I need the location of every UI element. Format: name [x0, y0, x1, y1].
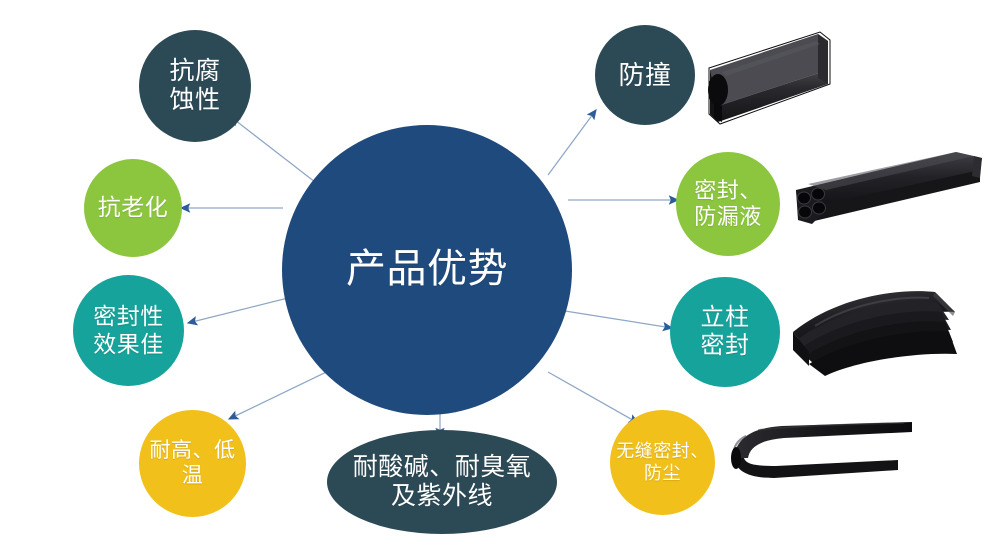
- node-temperature-resistance-label: 耐高、低 温: [144, 439, 242, 489]
- node-seamless-dustproof[interactable]: 无缝密封、 防尘: [610, 410, 715, 515]
- node-seal-leakproof[interactable]: 密封、 防漏液: [676, 152, 780, 256]
- arrow-to-column-seal: [565, 311, 672, 328]
- node-anti-corrosion-label: 抗腐 蚀性: [163, 57, 226, 116]
- node-seamless-dustproof-label: 无缝密封、 防尘: [610, 441, 715, 483]
- arrow-to-anti-corrosion: [231, 117, 315, 182]
- node-sealing-effect-label: 密封性 效果佳: [87, 303, 170, 357]
- arrow-to-anti-collision: [548, 110, 596, 175]
- node-anti-collision-label: 防撞: [612, 60, 677, 91]
- rubber-bumper-profile-photo: [700, 22, 990, 137]
- node-column-seal[interactable]: 立柱 密封: [670, 277, 780, 387]
- node-anti-corrosion[interactable]: 抗腐 蚀性: [139, 30, 251, 142]
- node-seal-leakproof-label: 密封、 防漏液: [688, 178, 768, 230]
- center-node-product-advantages[interactable]: 产品优势: [282, 125, 572, 415]
- node-anti-aging[interactable]: 抗老化: [84, 159, 182, 257]
- node-anti-aging-label: 抗老化: [92, 194, 175, 221]
- node-sealing-effect[interactable]: 密封性 效果佳: [73, 275, 184, 386]
- four-hole-rubber-extrusion-photo: [778, 148, 994, 240]
- node-chemical-resistance-label: 耐酸碱、耐臭氧 及紫外线: [347, 453, 538, 512]
- node-chemical-resistance[interactable]: 耐酸碱、耐臭氧 及紫外线: [327, 430, 557, 534]
- finned-rubber-profile-photo: [775, 280, 995, 385]
- arrow-to-sealing-effect: [188, 295, 300, 323]
- center-node-label: 产品优势: [340, 246, 514, 293]
- u-channel-rubber-strip-photo: [722, 418, 994, 488]
- node-column-seal-label: 立柱 密封: [695, 304, 756, 361]
- node-anti-collision[interactable]: 防撞: [595, 25, 695, 125]
- arrow-to-seamless-dustproof: [548, 372, 638, 423]
- node-temperature-resistance[interactable]: 耐高、低 温: [139, 410, 246, 517]
- product-advantages-diagram: 产品优势 抗腐 蚀性 抗老化 密封性 效果佳 耐高、低 温 耐酸碱、耐臭氧 及紫…: [0, 0, 1000, 556]
